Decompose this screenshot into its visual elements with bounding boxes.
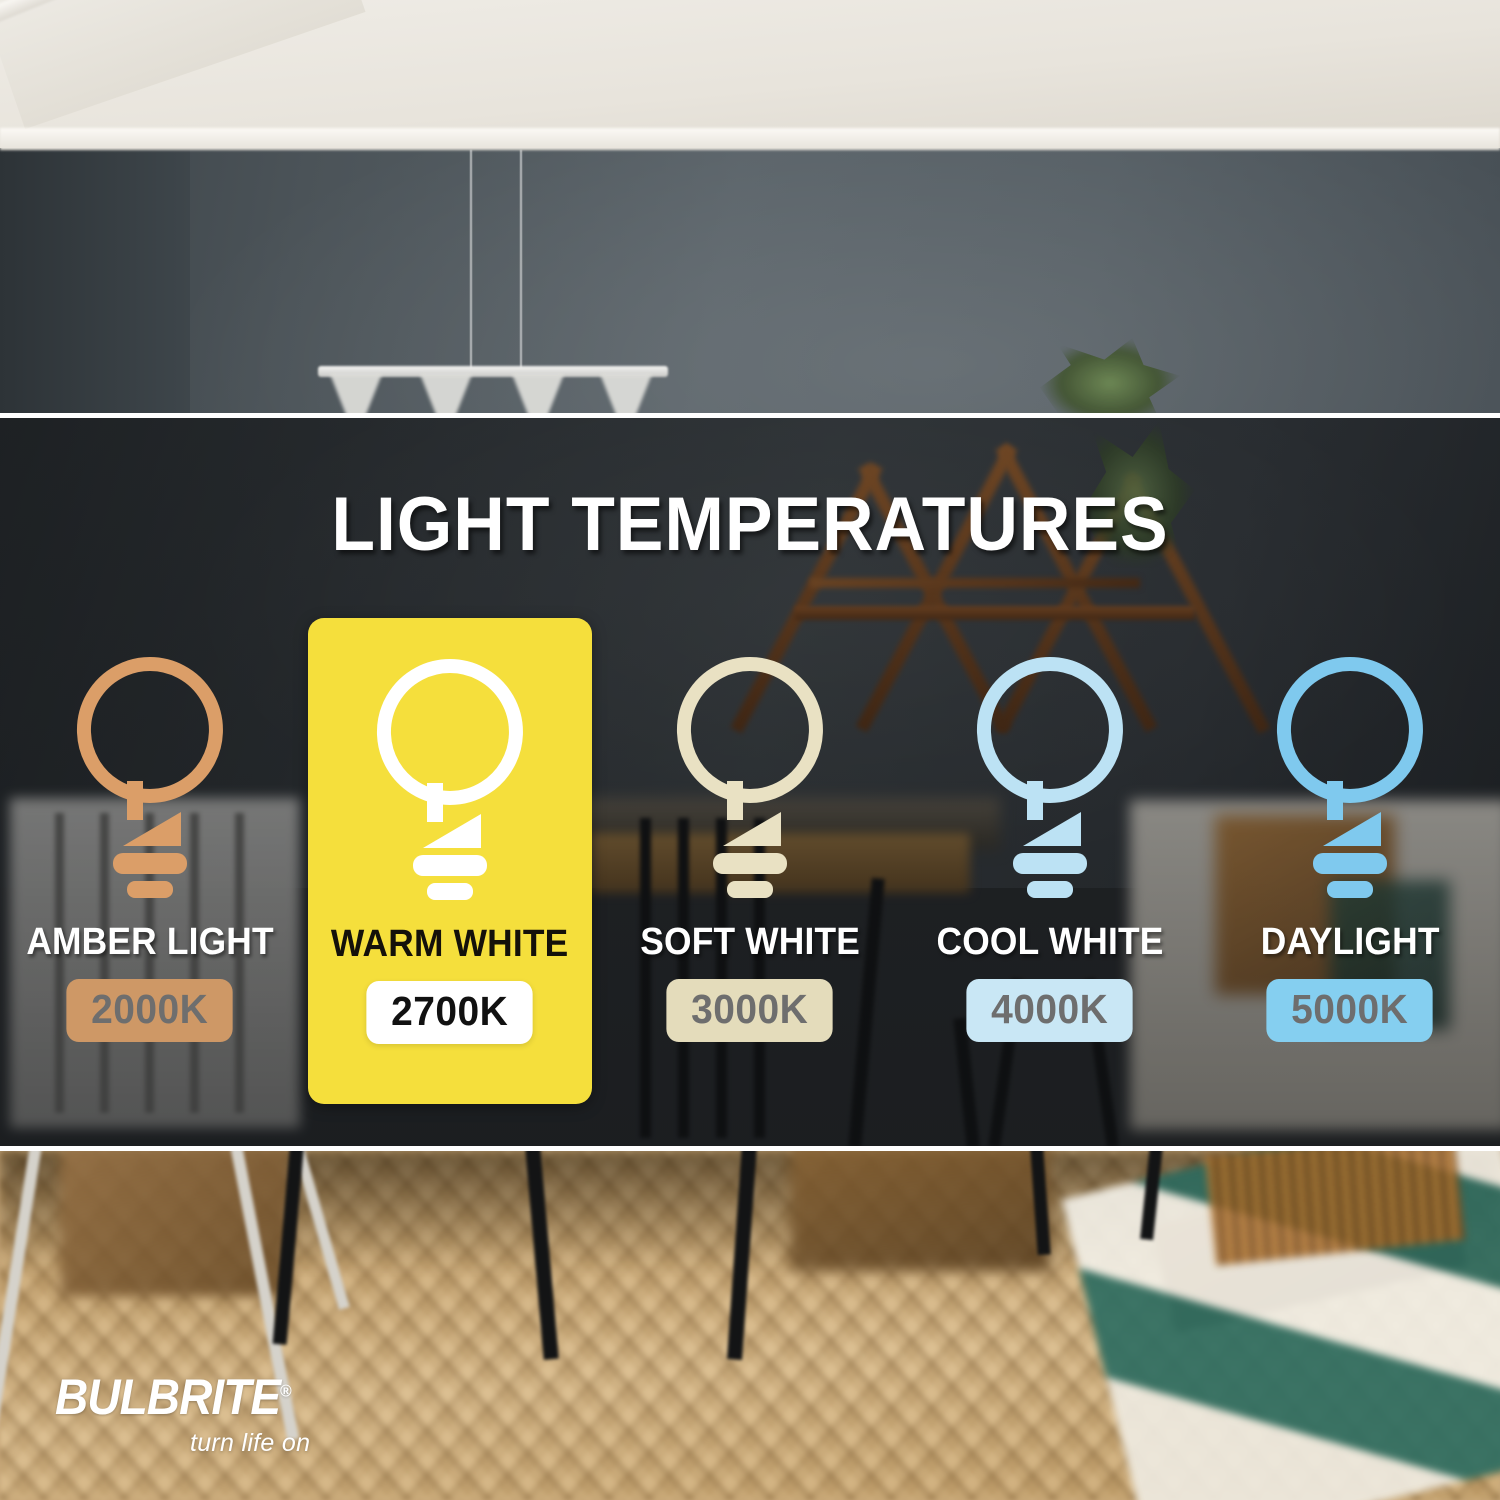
light-bulb-icon bbox=[365, 652, 535, 907]
registered-trademark-icon: ® bbox=[280, 1381, 292, 1400]
light-bulb-icon bbox=[965, 650, 1135, 905]
kelvin-badge: 2700K bbox=[367, 981, 534, 1044]
kelvin-badge: 5000K bbox=[1267, 979, 1434, 1042]
kelvin-badge: 4000K bbox=[967, 979, 1134, 1042]
kelvin-badge: 3000K bbox=[667, 979, 834, 1042]
pendant-cable bbox=[520, 150, 522, 370]
wooden-chair-bottom bbox=[790, 1151, 1050, 1271]
kelvin-badge: 2000K bbox=[67, 979, 234, 1042]
brand-name: BULBRITE® bbox=[55, 1372, 292, 1422]
background-photo-top bbox=[0, 0, 1500, 415]
pendant-shade bbox=[600, 374, 652, 415]
light-bulb-icon bbox=[65, 650, 235, 905]
temperature-label: AMBER LIGHT bbox=[26, 921, 273, 964]
temperature-column-amber-light[interactable]: AMBER LIGHT 2000K bbox=[0, 616, 300, 1096]
temperature-label: COOL WHITE bbox=[936, 921, 1163, 964]
page-title: LIGHT TEMPERATURES bbox=[45, 487, 1455, 563]
pendant-shade bbox=[512, 374, 564, 415]
brand-logo: BULBRITE® turn life on bbox=[55, 1372, 312, 1458]
pendant-shade bbox=[420, 374, 472, 415]
temperature-label: SOFT WHITE bbox=[640, 921, 860, 964]
pendant-shade bbox=[330, 374, 382, 415]
wall-left-shadow bbox=[0, 130, 190, 415]
brand-tagline: turn life on bbox=[55, 1429, 312, 1458]
wall-upper bbox=[0, 148, 1500, 415]
crown-molding bbox=[0, 128, 1500, 150]
pendant-cable bbox=[470, 150, 472, 370]
temperature-label: DAYLIGHT bbox=[1261, 921, 1440, 964]
temperature-column-cool-white[interactable]: COOL WHITE 4000K bbox=[900, 616, 1200, 1096]
temperature-scale: AMBER LIGHT 2000K WARM WHITE 2700K bbox=[0, 616, 1500, 1096]
temperature-label: WARM WHITE bbox=[331, 923, 568, 966]
divider-line-bottom bbox=[0, 1146, 1500, 1151]
light-bulb-icon bbox=[665, 650, 835, 905]
infographic-canvas: LIGHT TEMPERATURES AMBER LIGHT 2000K bbox=[0, 0, 1500, 1500]
temperature-column-soft-white[interactable]: SOFT WHITE 3000K bbox=[600, 616, 900, 1096]
light-bulb-icon bbox=[1265, 650, 1435, 905]
temperature-column-daylight[interactable]: DAYLIGHT 5000K bbox=[1200, 616, 1500, 1096]
divider-line-top bbox=[0, 413, 1500, 418]
temperature-column-warm-white[interactable]: WARM WHITE 2700K bbox=[300, 616, 600, 1096]
